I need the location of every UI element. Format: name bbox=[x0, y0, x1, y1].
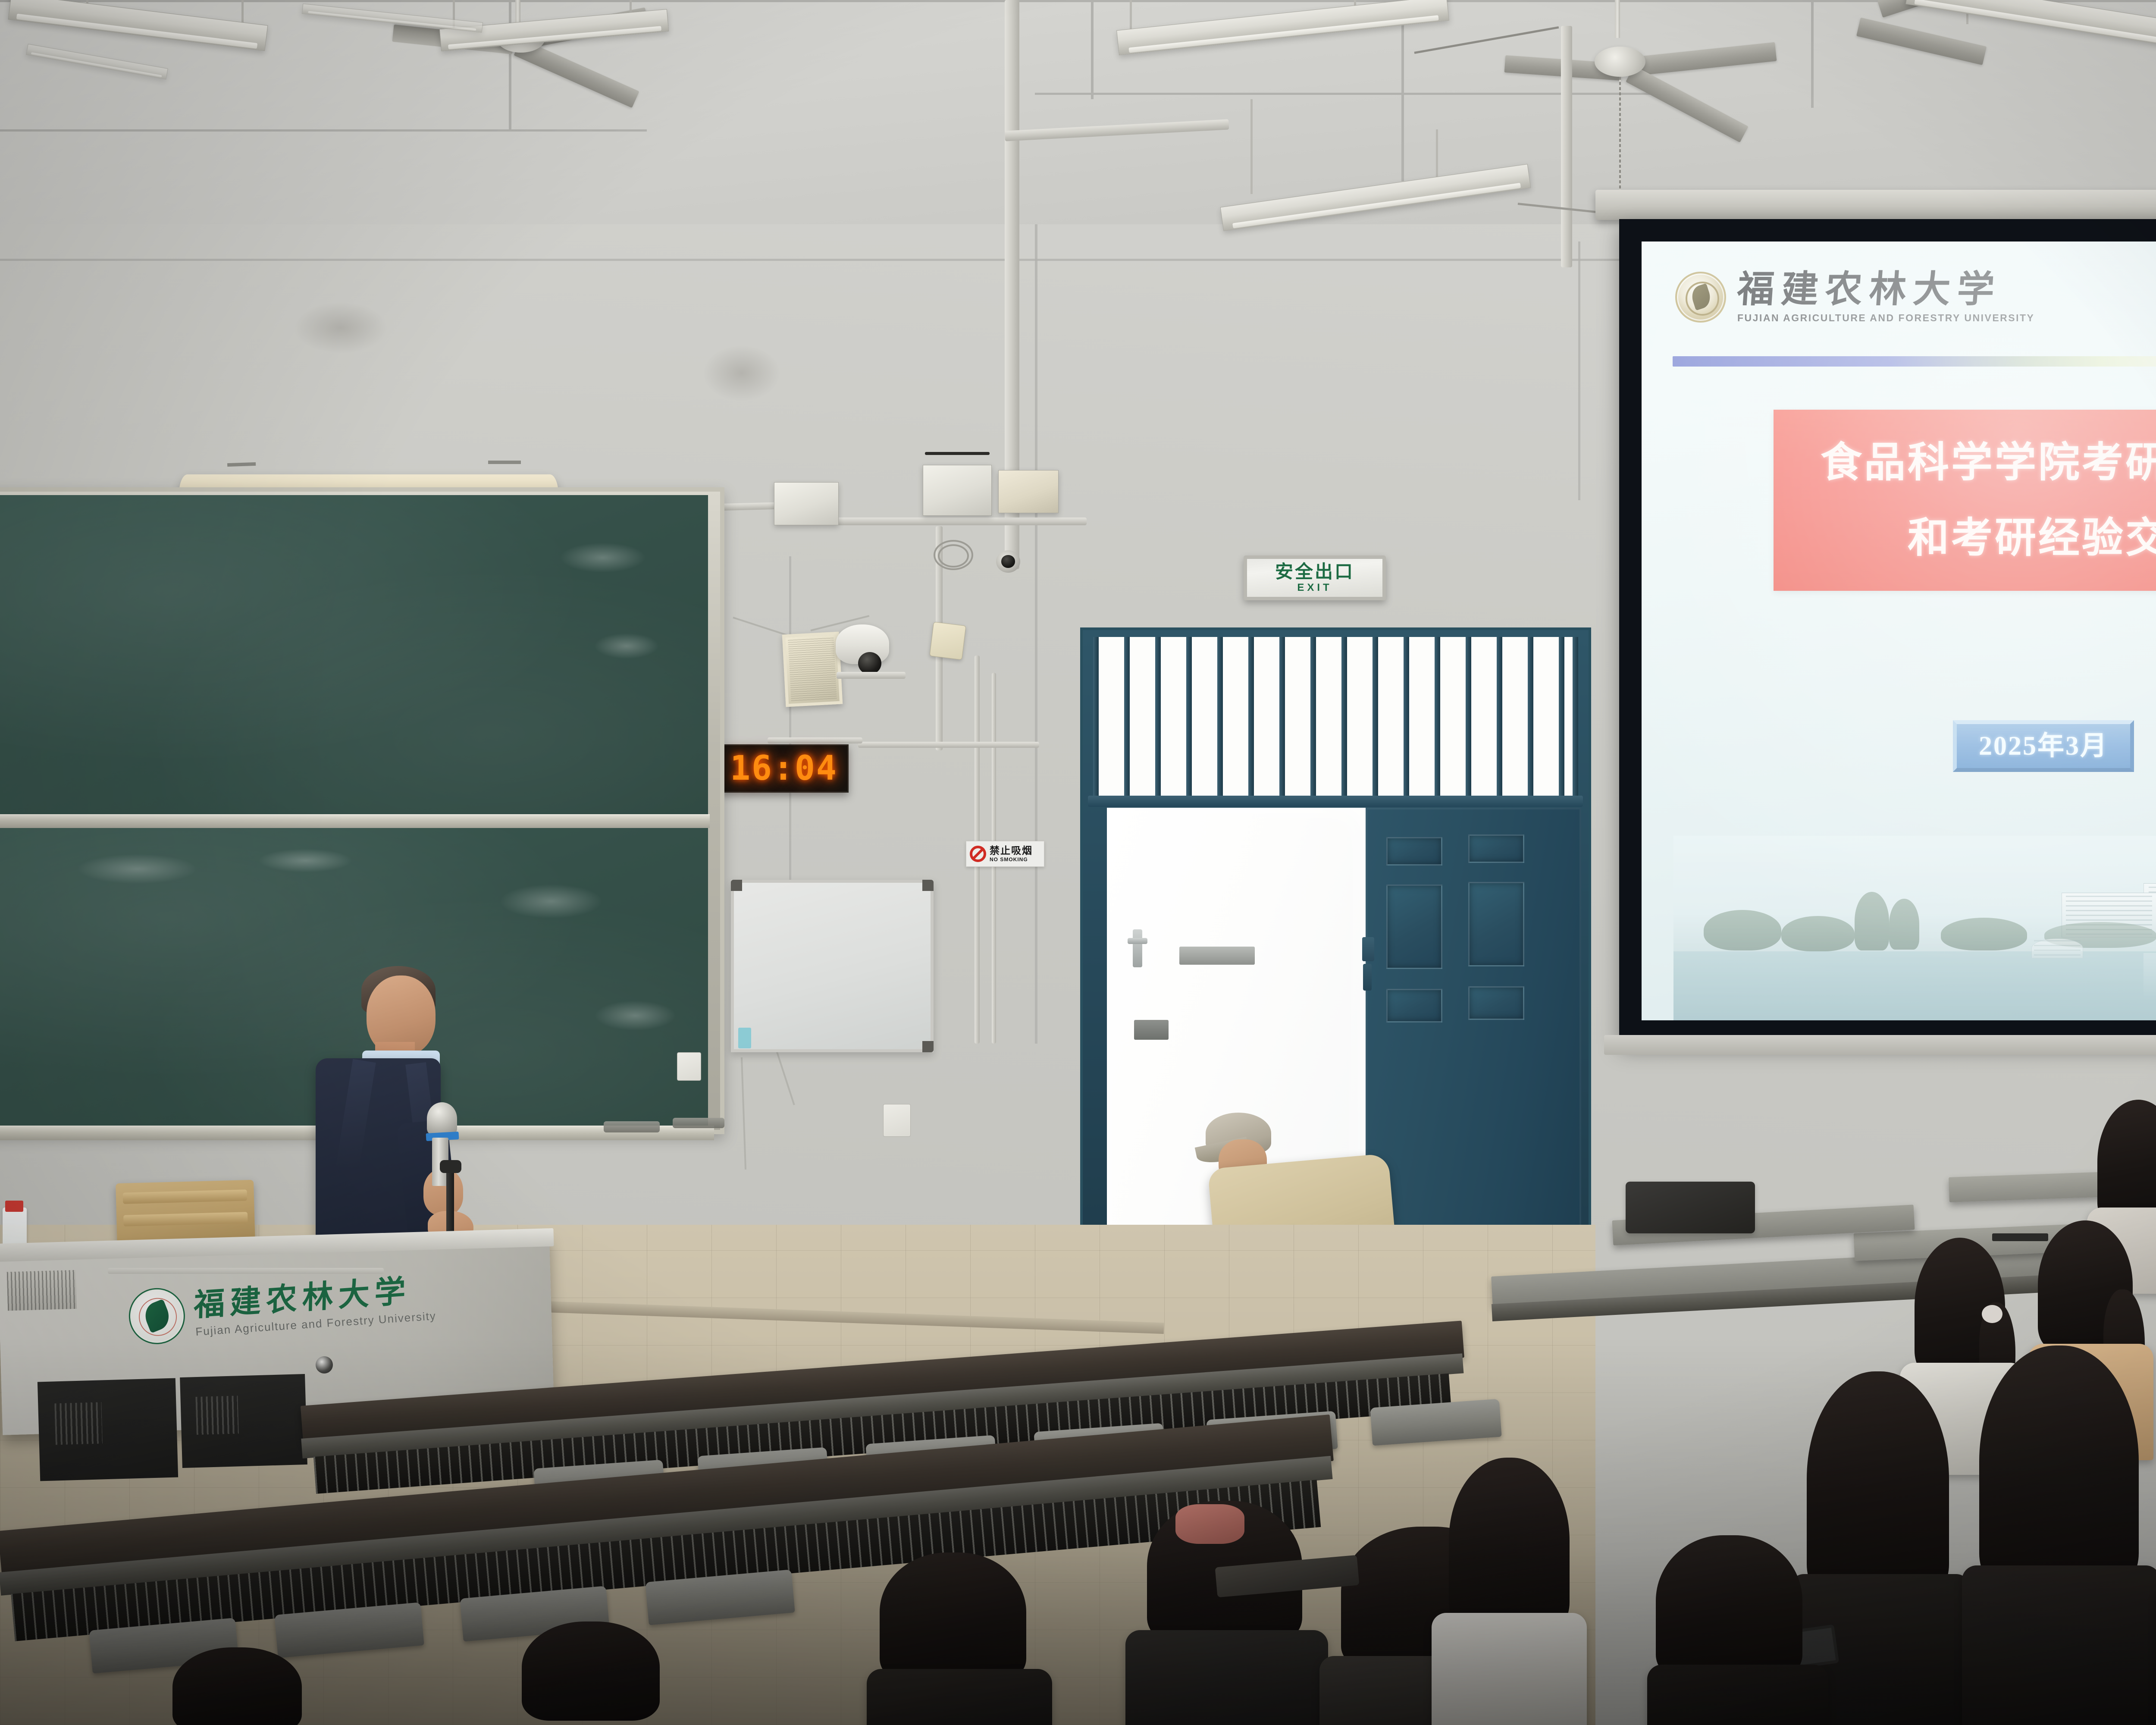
screen-weight-bar bbox=[1604, 1035, 2156, 1055]
door-lock[interactable] bbox=[1363, 964, 1372, 991]
bag-on-desk bbox=[1626, 1182, 1755, 1233]
chalk-smudge bbox=[258, 849, 353, 872]
university-seal-icon bbox=[1675, 272, 1726, 323]
student-torso bbox=[1125, 1630, 1328, 1725]
wall-speaker bbox=[782, 632, 843, 707]
fan-stem bbox=[1615, 0, 1620, 38]
student bbox=[164, 1647, 328, 1725]
whiteboard bbox=[731, 880, 934, 1052]
slide-date-text: 2025年3月 bbox=[1979, 733, 2108, 759]
podium-lock-knob[interactable] bbox=[315, 1356, 333, 1374]
whiteboard-corner bbox=[922, 880, 934, 891]
student-torso bbox=[1647, 1665, 1828, 1725]
ceiling-seam bbox=[1401, 0, 1404, 181]
ir-sensor bbox=[929, 622, 966, 660]
photo-reflection bbox=[2143, 953, 2156, 1000]
podium-vent bbox=[7, 1270, 77, 1311]
bottle-cap bbox=[5, 1201, 23, 1212]
junction-box bbox=[998, 470, 1059, 513]
door-panel bbox=[1386, 989, 1442, 1022]
door-panel bbox=[1468, 986, 1524, 1020]
no-smoking-sign: 禁止吸烟 NO SMOKING bbox=[966, 841, 1044, 867]
student-torso bbox=[1432, 1613, 1587, 1725]
whiteboard-magnet bbox=[738, 1028, 751, 1048]
chalk-eraser bbox=[604, 1121, 660, 1132]
transom-rail bbox=[1088, 796, 1583, 807]
chair-slat bbox=[123, 1212, 248, 1226]
student bbox=[1958, 1345, 2156, 1725]
slide-header-rule bbox=[1673, 356, 2156, 367]
clock-time: 16:04 bbox=[730, 749, 838, 788]
student-hair bbox=[880, 1552, 1026, 1682]
slide-title-line1: 食品科学学院考研政策介绍 bbox=[1821, 433, 2156, 492]
student-hair bbox=[1449, 1458, 1570, 1630]
hair-scrunchie bbox=[1175, 1504, 1244, 1544]
corridor-object bbox=[1134, 1020, 1169, 1040]
wall-conduit bbox=[858, 742, 1039, 748]
student bbox=[1423, 1458, 1587, 1725]
slide-date-chip: 2025年3月 bbox=[1953, 720, 2134, 772]
student-hair bbox=[522, 1621, 660, 1721]
chair-slat bbox=[123, 1189, 248, 1204]
ceiling-seam bbox=[0, 129, 647, 132]
photo-tree bbox=[1941, 918, 2027, 950]
door-handle-far-grip[interactable] bbox=[1128, 938, 1147, 944]
podium-cabinet-door[interactable] bbox=[180, 1374, 307, 1468]
slide-logo: 福建农林大学 FUJIAN AGRICULTURE AND FORESTRY U… bbox=[1675, 271, 2034, 323]
chalk-smudge bbox=[594, 633, 659, 659]
corridor-object bbox=[1179, 947, 1255, 965]
ceiling-seam bbox=[1811, 0, 1814, 108]
door-panel bbox=[1468, 882, 1524, 966]
wall-switch[interactable] bbox=[883, 1104, 911, 1137]
projector-screen-housing bbox=[1595, 190, 2156, 220]
whiteboard-corner bbox=[922, 1041, 934, 1052]
ceiling-seam bbox=[1035, 93, 1682, 95]
light-rod bbox=[1250, 99, 1253, 194]
cable-coil bbox=[938, 544, 969, 568]
student-hair bbox=[1656, 1535, 1802, 1678]
ceiling-seam bbox=[0, 0, 2156, 2]
podium-seam bbox=[108, 1268, 384, 1274]
chalk-smudge bbox=[77, 854, 197, 884]
door-handle-far[interactable] bbox=[1133, 929, 1142, 967]
slide-campus-photo bbox=[1673, 836, 2156, 1020]
student-hair bbox=[1979, 1345, 2139, 1587]
wall-seam bbox=[1578, 241, 1580, 500]
microphone-head bbox=[427, 1102, 457, 1135]
door-panel bbox=[1468, 834, 1524, 863]
lecture-hall-scene: 16:04 安全出口 EXIT 禁止吸烟 NO SMOKING bbox=[0, 0, 2156, 1725]
exit-sign-chinese: 安全出口 bbox=[1275, 563, 1354, 581]
student bbox=[1121, 1501, 1328, 1725]
chalk-smudge bbox=[560, 543, 646, 573]
wall-conduit bbox=[768, 737, 862, 743]
ceiling-seam bbox=[509, 0, 511, 129]
slide-surface: 福建农林大学 FUJIAN AGRICULTURE AND FORESTRY U… bbox=[1642, 241, 2156, 1020]
network-box bbox=[774, 482, 839, 525]
ceiling-fan bbox=[1595, 47, 1645, 77]
photo-tree bbox=[1781, 916, 1855, 951]
hair-tie bbox=[1982, 1305, 2002, 1323]
slide-university-en: FUJIAN AGRICULTURE AND FORESTRY UNIVERSI… bbox=[1737, 313, 2034, 323]
photo-tree bbox=[1704, 910, 1781, 950]
no-smoking-chinese: 禁止吸烟 bbox=[990, 846, 1033, 856]
student-torso bbox=[867, 1669, 1052, 1725]
wall-outlet[interactable] bbox=[677, 1052, 701, 1081]
whiteboard-corner bbox=[731, 880, 742, 891]
photo-tree bbox=[1889, 899, 1919, 950]
wall-conduit bbox=[819, 517, 1087, 525]
ceiling-seam bbox=[1091, 0, 1094, 99]
lamp-wire bbox=[488, 461, 521, 464]
chalk-rail bbox=[0, 814, 710, 828]
camera-lens-icon bbox=[858, 652, 881, 674]
photo-tree bbox=[1855, 892, 1889, 950]
student-hair bbox=[2097, 1100, 2156, 1225]
photo-pavilion bbox=[2031, 938, 2083, 958]
power-box bbox=[923, 465, 992, 516]
exit-sign: 安全出口 EXIT bbox=[1244, 555, 1386, 600]
student bbox=[505, 1621, 686, 1725]
wall-seam bbox=[1035, 224, 1037, 1044]
exit-sign-english: EXIT bbox=[1297, 583, 1332, 593]
projection-screen: 福建农林大学 FUJIAN AGRICULTURE AND FORESTRY U… bbox=[1619, 219, 2156, 1043]
chalk-eraser bbox=[673, 1118, 724, 1128]
antenna bbox=[925, 452, 990, 455]
no-smoking-english: NO SMOKING bbox=[990, 857, 1033, 862]
no-smoking-text: 禁止吸烟 NO SMOKING bbox=[990, 846, 1033, 862]
student bbox=[1647, 1535, 1828, 1725]
chalkboard-upper-panel bbox=[0, 495, 708, 814]
student bbox=[867, 1552, 1052, 1725]
door-transom bbox=[1093, 637, 1578, 801]
wall-stain bbox=[703, 345, 780, 401]
slide-title-band: 食品科学学院考研政策介绍 和考研经验交流会 bbox=[1774, 410, 2156, 591]
chalk-smudge bbox=[594, 1000, 676, 1031]
slide-title-line2: 和考研经验交流会 bbox=[1908, 508, 2156, 568]
student-hair bbox=[172, 1647, 302, 1725]
no-smoking-icon bbox=[970, 846, 986, 862]
podium-branding: 福建农林大学 Fujian Agriculture and Forestry U… bbox=[127, 1270, 437, 1346]
wall-conduit bbox=[1561, 26, 1572, 267]
microphone-stand-joint bbox=[440, 1160, 461, 1173]
camera-bracket bbox=[837, 672, 906, 679]
chalk-smudge bbox=[499, 884, 603, 919]
wall-stain bbox=[293, 302, 388, 354]
door-handle[interactable] bbox=[1362, 937, 1374, 961]
slide-university-cn: 福建农林大学 bbox=[1736, 271, 2036, 308]
dome-camera-icon bbox=[996, 550, 1020, 573]
wall-clock: 16:04 bbox=[719, 744, 849, 793]
photo-lake bbox=[1673, 951, 2156, 1020]
door-panel bbox=[1386, 837, 1442, 866]
podium-seal-icon bbox=[127, 1286, 187, 1346]
door-panel bbox=[1386, 884, 1442, 969]
student-torso bbox=[1962, 1565, 2156, 1725]
podium-cabinet-door[interactable] bbox=[38, 1378, 178, 1481]
